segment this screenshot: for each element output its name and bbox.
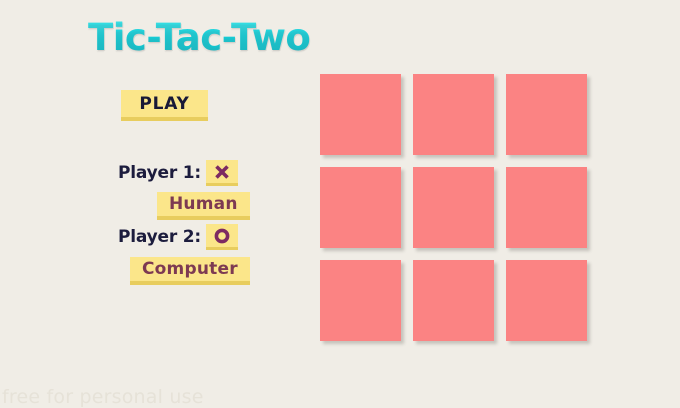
page-title: Tic-Tac-Two [88,16,310,59]
board-cell[interactable] [320,167,401,248]
board-cell[interactable] [320,260,401,341]
player-2-label: Player 2: [118,227,201,247]
player-1-type-button[interactable]: Human [157,192,250,220]
game-board [320,74,587,341]
game-app: Tic-Tac-Two Tic-Tac-Two PLAY Player 1: H… [0,0,680,405]
control-panel: Tic-Tac-Two Tic-Tac-Two PLAY Player 1: H… [0,0,300,405]
player-1-label: Player 1: [118,163,201,183]
play-button[interactable]: PLAY [121,90,208,121]
board-cell[interactable] [413,74,494,155]
player-2-row: Player 2: [118,224,238,250]
board-cell[interactable] [506,167,587,248]
player-2-type-button[interactable]: Computer [130,257,250,285]
circle-icon [206,224,238,250]
board-cell[interactable] [413,260,494,341]
cross-icon [206,160,238,186]
board-cell[interactable] [506,260,587,341]
board-cell[interactable] [413,167,494,248]
board-cell[interactable] [320,74,401,155]
player-1-row: Player 1: [118,160,238,186]
board-cell[interactable] [506,74,587,155]
